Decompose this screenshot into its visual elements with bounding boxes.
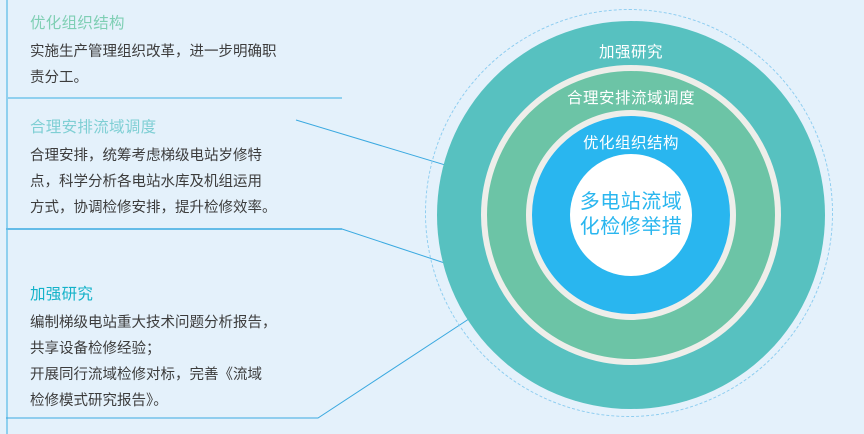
ring-label-inner: 优化组织结构 [437, 131, 825, 153]
section-divider-1 [6, 97, 342, 99]
body-line: 开展同行流域检修对标，完善《流域 [30, 362, 340, 388]
text-block-body: 实施生产管理组织改革，进一步明确职 责分工。 [30, 39, 340, 91]
core-label-line: 化检修举措 [580, 215, 683, 240]
body-line: 点，科学分析各电站水库及机组运用 [30, 169, 340, 195]
core-label-line: 多电站流域 [580, 190, 683, 215]
left-text-panel: 优化组织结构 实施生产管理组织改革，进一步明确职 责分工。 合理安排流域调度 合… [0, 0, 400, 434]
text-block-body: 编制梯级电站重大技术问题分析报告， 共享设备检修经验； 开展同行流域检修对标，完… [30, 310, 340, 414]
body-line: 责分工。 [30, 65, 340, 91]
text-block-title: 合理安排流域调度 [30, 116, 340, 140]
infographic-canvas: 优化组织结构 实施生产管理组织改革，进一步明确职 责分工。 合理安排流域调度 合… [0, 0, 864, 434]
body-line: 方式，协调检修安排，提升检修效率。 [30, 195, 340, 221]
ring-label-mid: 合理安排流域调度 [437, 86, 825, 108]
text-block-body: 合理安排，统筹考虑梯级电站岁修特 点，科学分析各电站水库及机组运用 方式，协调检… [30, 143, 340, 221]
body-line: 合理安排，统筹考虑梯级电站岁修特 [30, 143, 340, 169]
text-block-title: 优化组织结构 [30, 12, 340, 36]
left-accent-rail [6, 0, 8, 434]
text-block-title: 加强研究 [30, 283, 340, 307]
section-divider-2 [6, 228, 342, 230]
text-block-optimize-structure: 优化组织结构 实施生产管理组织改革，进一步明确职 责分工。 [30, 12, 340, 91]
core-circle[interactable]: 多电站流域 化检修举措 [570, 154, 692, 276]
concentric-ring-diagram: 多电站流域 化检修举措 加强研究 合理安排流域调度 优化组织结构 [437, 21, 825, 409]
body-line: 检修模式研究报告》。 [30, 388, 340, 414]
body-line: 编制梯级电站重大技术问题分析报告， [30, 310, 340, 336]
text-block-basin-scheduling: 合理安排流域调度 合理安排，统筹考虑梯级电站岁修特 点，科学分析各电站水库及机组… [30, 116, 340, 221]
ring-label-outer: 加强研究 [437, 40, 825, 62]
text-block-strengthen-research: 加强研究 编制梯级电站重大技术问题分析报告， 共享设备检修经验； 开展同行流域检… [30, 283, 340, 414]
core-label: 多电站流域 化检修举措 [580, 190, 683, 240]
body-line: 共享设备检修经验； [30, 336, 340, 362]
body-line: 实施生产管理组织改革，进一步明确职 [30, 39, 340, 65]
